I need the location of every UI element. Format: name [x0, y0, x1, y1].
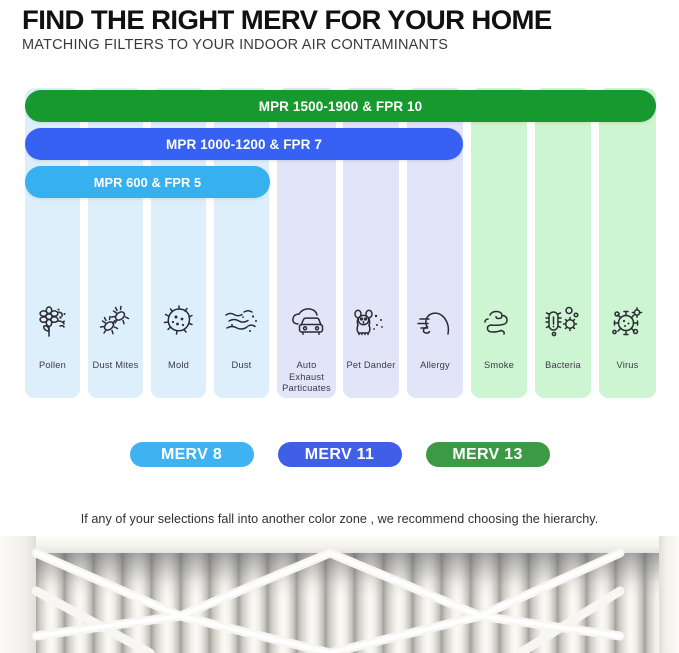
merv-badge-8[interactable]: MERV 8	[130, 442, 254, 467]
mpr-bar-green[interactable]: MPR 1500-1900 & FPR 10	[25, 90, 656, 122]
pollen-icon	[25, 293, 80, 349]
column-label: Pollen	[25, 360, 80, 372]
pet-dander-icon	[343, 293, 399, 349]
bacteria-icon	[535, 293, 591, 349]
contaminant-column-bacteria[interactable]: Bacteria	[535, 88, 591, 398]
air-filter-photo	[0, 536, 679, 653]
column-label: Pet Dander	[343, 360, 399, 372]
allergy-icon	[407, 293, 463, 349]
merv-badge-13[interactable]: MERV 13	[426, 442, 550, 467]
filter-support-grid	[0, 536, 679, 653]
mold-icon	[151, 293, 206, 349]
smoke-icon	[471, 293, 527, 349]
mpr-bar-blue[interactable]: MPR 1000-1200 & FPR 7	[25, 128, 463, 160]
contaminant-column-virus[interactable]: Virus	[599, 88, 656, 398]
column-label: Mold	[151, 360, 206, 372]
merv-chart: Pollen Dust Mites	[0, 0, 679, 500]
merv-legend: MERV 8 MERV 11 MERV 13	[0, 442, 679, 467]
column-label: Dust	[214, 360, 269, 372]
column-label: Virus	[599, 360, 656, 372]
dust-mite-icon	[88, 293, 143, 349]
column-label: Auto Exhaust Particuates	[277, 360, 336, 395]
infographic-root: FIND THE RIGHT MERV FOR YOUR HOME MATCHI…	[0, 0, 679, 653]
contaminant-column-smoke[interactable]: Smoke	[471, 88, 527, 398]
dust-icon	[214, 293, 269, 349]
column-label: Bacteria	[535, 360, 591, 372]
hierarchy-note: If any of your selections fall into anot…	[0, 512, 679, 526]
column-label: Smoke	[471, 360, 527, 372]
auto-exhaust-icon	[277, 293, 336, 349]
merv-badge-11[interactable]: MERV 11	[278, 442, 402, 467]
column-label: Allergy	[407, 360, 463, 372]
column-label: Dust Mites	[88, 360, 143, 372]
mpr-bar-light-blue[interactable]: MPR 600 & FPR 5	[25, 166, 270, 198]
virus-icon	[599, 293, 656, 349]
